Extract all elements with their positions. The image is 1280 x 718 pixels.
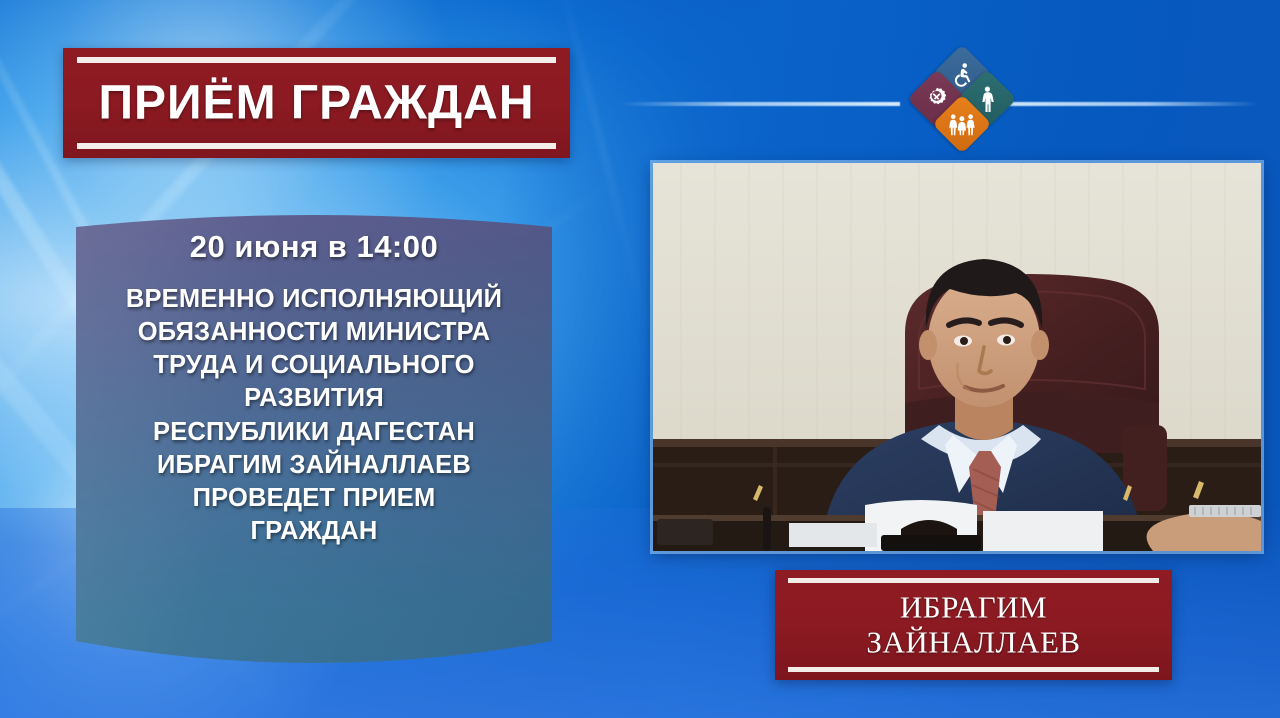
announcement-line: ТРУДА И СОЦИАЛЬНОГО: [86, 349, 542, 382]
wheelchair-icon: [950, 62, 975, 87]
official-photo: [653, 163, 1261, 551]
announcement-line: РАЗВИТИЯ: [86, 382, 542, 415]
banner-rule-bottom: [77, 143, 556, 149]
announcement-line: РЕСПУБЛИКИ ДАГЕСТАН: [86, 416, 542, 449]
announcement-line: ВРЕМЕННО ИСПОЛНЯЮЩИЙ: [86, 283, 542, 316]
nameplate-rule-bottom: [788, 667, 1159, 672]
nameplate-rule-top: [788, 578, 1159, 583]
nameplate: ИБРАГИМ ЗАЙНАЛЛАЕВ: [775, 570, 1172, 680]
gear-hammer-icon: [924, 86, 950, 112]
event-datetime: 20 июня в 14:00: [86, 229, 542, 265]
walking-person-icon: [975, 86, 999, 112]
banner-rule-top: [77, 57, 556, 63]
divider-left: [620, 102, 900, 106]
page-title: ПРИЁМ ГРАЖДАН: [63, 76, 570, 131]
official-last-name: ЗАЙНАЛЛАЕВ: [775, 625, 1172, 660]
announcement-line: ИБРАГИМ ЗАЙНАЛЛАЕВ: [86, 449, 542, 482]
official-first-name: ИБРАГИМ: [775, 590, 1172, 625]
announcement-text: ВРЕМЕННО ИСПОЛНЯЮЩИЙ ОБЯЗАННОСТИ МИНИСТР…: [86, 283, 542, 548]
ministry-logo: [916, 53, 1008, 145]
official-name: ИБРАГИМ ЗАЙНАЛЛАЕВ: [775, 590, 1172, 659]
family-icon: [948, 112, 976, 136]
announcement-line: ПРОВЕДЕТ ПРИЕМ: [86, 482, 542, 515]
banner-priem-grazhdan: ПРИЁМ ГРАЖДАН: [63, 48, 570, 158]
announcement-line: ГРАЖДАН: [86, 515, 542, 548]
info-panel: 20 июня в 14:00 ВРЕМЕННО ИСПОЛНЯЮЩИЙ ОБЯ…: [68, 203, 560, 683]
divider-right: [980, 102, 1260, 106]
poster-canvas: ПРИЁМ ГРАЖДАН: [0, 0, 1280, 718]
announcement-line: ОБЯЗАННОСТИ МИНИСТРА: [86, 316, 542, 349]
